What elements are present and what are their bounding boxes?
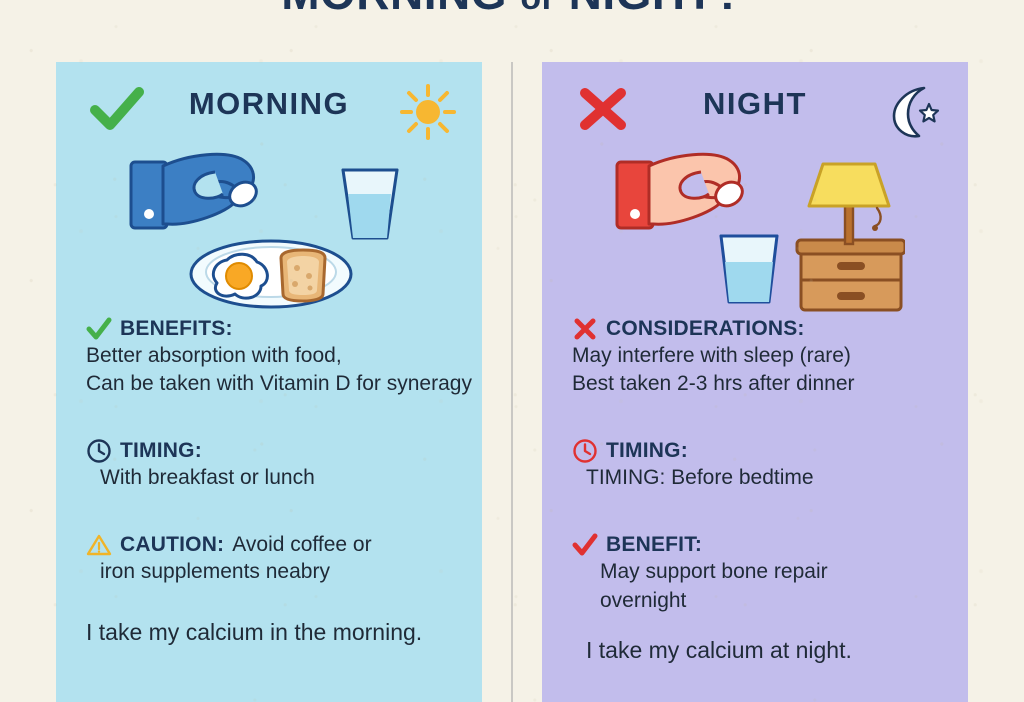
night-timing-line-1: TIMING: Before bedtime bbox=[572, 464, 968, 492]
moon-star-icon bbox=[884, 82, 944, 142]
night-benefit-line-1: May support bone repair bbox=[572, 558, 968, 586]
night-card-header: NIGHT bbox=[542, 62, 968, 148]
night-benefit-block: BENEFIT: May support bone repair overnig… bbox=[572, 532, 968, 614]
morning-timing-label: TIMING: bbox=[120, 439, 202, 463]
morning-caution-heading: CAUTION: Avoid coffee or bbox=[86, 532, 482, 558]
page-title-conjunction: or bbox=[520, 0, 555, 17]
page-title: MORNING or NIGHT? bbox=[0, 0, 1024, 20]
morning-benefits-heading: BENEFITS: bbox=[86, 316, 482, 342]
night-footer-text: I take my calcium at night. bbox=[572, 637, 968, 664]
night-considerations-heading: CONSIDERATIONS: bbox=[572, 316, 968, 342]
morning-timing-line-1: With breakfast or lunch bbox=[86, 464, 482, 492]
hand-pill-water-nightstand-illustration bbox=[542, 148, 968, 316]
night-timing-label: TIMING: bbox=[606, 439, 688, 463]
hand-pill-water-breakfast-illustration bbox=[56, 148, 482, 316]
night-considerations-block: CONSIDERATIONS: May interfere with sleep… bbox=[572, 316, 968, 398]
morning-caution-label: CAUTION: bbox=[120, 533, 224, 557]
morning-card: MORNING bbox=[56, 62, 482, 702]
night-card: NIGHT bbox=[542, 62, 968, 702]
night-timing-block: TIMING: TIMING: Before bedtime bbox=[572, 438, 968, 492]
night-considerations-label: CONSIDERATIONS: bbox=[606, 317, 805, 341]
red-check-icon bbox=[572, 532, 598, 558]
morning-caution-inline: Avoid coffee or bbox=[232, 533, 371, 557]
clock-icon-red bbox=[572, 438, 598, 464]
warning-triangle-icon bbox=[86, 532, 112, 558]
night-timing-heading: TIMING: bbox=[572, 438, 968, 464]
morning-caution-line-1: iron supplements neabry bbox=[86, 558, 482, 586]
page-title-main: MORNING bbox=[281, 0, 507, 19]
morning-benefits-line-2: Can be taken with Vitamin D for syneragy bbox=[86, 370, 482, 398]
night-benefit-line-2: overnight bbox=[572, 587, 968, 615]
night-benefit-heading: BENEFIT: bbox=[572, 532, 968, 558]
card-divider bbox=[511, 62, 513, 702]
night-considerations-line-2: Best taken 2-3 hrs after dinner bbox=[572, 370, 968, 398]
morning-benefits-block: BENEFITS: Better absorption with food, C… bbox=[86, 316, 482, 398]
clock-icon bbox=[86, 438, 112, 464]
morning-benefits-line-1: Better absorption with food, bbox=[86, 342, 482, 370]
night-card-body: CONSIDERATIONS: May interfere with sleep… bbox=[542, 316, 968, 664]
night-benefit-label: BENEFIT: bbox=[606, 533, 702, 557]
morning-card-body: BENEFITS: Better absorption with food, C… bbox=[56, 316, 482, 646]
morning-footer-text: I take my calcium in the morning. bbox=[86, 619, 482, 646]
morning-card-header: MORNING bbox=[56, 62, 482, 148]
morning-timing-block: TIMING: With breakfast or lunch bbox=[86, 438, 482, 492]
red-x-icon bbox=[572, 316, 598, 342]
page-title-end: NIGHT? bbox=[569, 0, 743, 19]
sun-icon bbox=[398, 82, 458, 142]
night-considerations-line-1: May interfere with sleep (rare) bbox=[572, 342, 968, 370]
morning-benefits-label: BENEFITS: bbox=[120, 317, 233, 341]
morning-caution-block: CAUTION: Avoid coffee or iron supplement… bbox=[86, 532, 482, 586]
morning-timing-heading: TIMING: bbox=[86, 438, 482, 464]
green-check-icon bbox=[86, 316, 112, 342]
